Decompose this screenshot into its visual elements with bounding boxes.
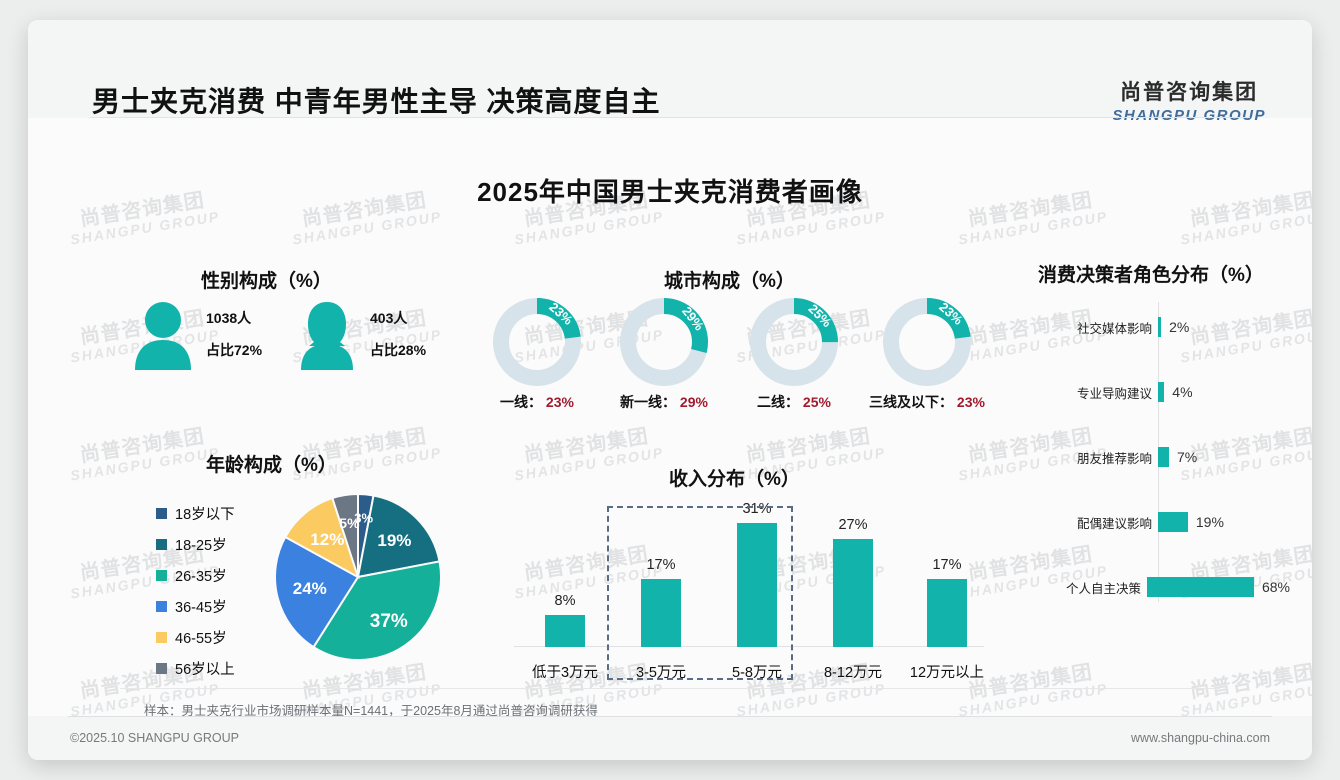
decision-bar-row: 配偶建议影响19%	[1040, 509, 1290, 535]
income-bar-category: 低于3万元	[513, 661, 617, 682]
donut-caption: 三线及以下： 23%	[869, 392, 985, 412]
age-legend-label: 18-25岁	[175, 534, 227, 555]
logo-chinese-name: 尚普咨询集团	[1112, 76, 1266, 106]
male-silhouette-icon	[132, 300, 194, 372]
income-bar-category: 8-12万元	[801, 661, 905, 682]
decision-bar	[1158, 447, 1169, 467]
decision-bar-row: 社交媒体影响2%	[1040, 314, 1290, 340]
legend-swatch	[156, 632, 167, 643]
website-text: www.shangpu-china.com	[1131, 731, 1270, 745]
donut-caption: 二线： 25%	[757, 392, 831, 412]
decision-bar-wrap: 68%	[1147, 577, 1290, 597]
decision-bar-label: 社交媒体影响	[1040, 318, 1152, 337]
female-share: 占比28%	[370, 340, 426, 360]
pie-value-label: 12%	[310, 530, 344, 550]
watermark: 尚普咨询集团SHANGPU GROUP	[66, 424, 221, 483]
legend-swatch	[156, 570, 167, 581]
income-bar	[545, 615, 585, 647]
decision-bar-wrap: 19%	[1158, 512, 1224, 532]
copyright-text: ©2025.10 SHANGPU GROUP	[70, 731, 239, 745]
decision-bar-row: 朋友推荐影响7%	[1040, 444, 1290, 470]
city-donut-3: 23%三线及以下： 23%	[883, 298, 971, 418]
income-bar-category: 12万元以上	[895, 661, 999, 682]
watermark: 尚普咨询集团SHANGPU GROUP	[1176, 660, 1312, 719]
pie-value-label: 24%	[293, 579, 327, 599]
decision-bar-chart: 社交媒体影响2%专业导购建议4%朋友推荐影响7%配偶建议影响19%个人自主决策6…	[1040, 302, 1290, 614]
age-legend-label: 56岁以上	[175, 658, 235, 679]
decision-bar	[1158, 382, 1164, 402]
income-bar-column: 8%	[518, 615, 612, 647]
age-legend-label: 46-55岁	[175, 627, 227, 648]
decision-bar	[1158, 317, 1161, 337]
decision-section-title: 消费决策者角色分布（%）	[1038, 260, 1264, 287]
income-bar-chart: 8%低于3万元17%3-5万元31%5-8万元27%8-12万元17%12万元以…	[514, 498, 984, 688]
decision-bar-value: 7%	[1177, 449, 1197, 465]
age-legend-label: 26-35岁	[175, 565, 227, 586]
city-donut-1: 29%新一线： 29%	[620, 298, 708, 418]
header-bar: 男士夹克消费 中青年男性主导 决策高度自主 尚普咨询集团 SHANGPU GRO…	[28, 20, 1312, 118]
age-legend-item: 18岁以下	[156, 498, 235, 529]
decision-bar-wrap: 2%	[1158, 317, 1189, 337]
decision-bar	[1158, 512, 1188, 532]
donut-caption: 一线： 23%	[500, 392, 574, 412]
decision-bar-wrap: 4%	[1158, 382, 1193, 402]
legend-swatch	[156, 663, 167, 674]
decision-bar-label: 专业导购建议	[1040, 383, 1152, 402]
gender-section-title: 性别构成（%）	[201, 266, 332, 293]
footer-divider	[68, 716, 1272, 717]
logo-english-name: SHANGPU GROUP	[1112, 107, 1266, 124]
legend-swatch	[156, 601, 167, 612]
income-bar	[927, 579, 967, 647]
decision-bar-label: 个人自主决策	[1040, 578, 1141, 597]
age-legend-label: 36-45岁	[175, 596, 227, 617]
watermark: 尚普咨询集团SHANGPU GROUP	[510, 424, 665, 483]
age-legend-item: 18-25岁	[156, 529, 235, 560]
decision-bar-row: 专业导购建议4%	[1040, 379, 1290, 405]
decision-bar-row: 个人自主决策68%	[1040, 574, 1290, 600]
age-section-title: 年龄构成（%）	[206, 450, 337, 477]
gender-item-male: 1038人 占比72%	[132, 300, 194, 377]
donut-caption: 新一线： 29%	[620, 392, 708, 412]
age-legend-item: 56岁以上	[156, 653, 235, 684]
decision-bar-label: 朋友推荐影响	[1040, 448, 1152, 467]
age-legend-item: 26-35岁	[156, 560, 235, 591]
note-divider	[120, 688, 1220, 689]
city-donut-2: 25%二线： 25%	[750, 298, 838, 418]
age-legend: 18岁以下18-25岁26-35岁36-45岁46-55岁56岁以上	[156, 498, 235, 684]
legend-swatch	[156, 539, 167, 550]
pie-value-label: 5%	[339, 515, 359, 531]
female-count: 403人	[370, 308, 407, 328]
income-bar-value: 8%	[518, 593, 612, 609]
male-count: 1038人	[206, 308, 251, 328]
income-section-title: 收入分布（%）	[669, 464, 800, 491]
decision-bar	[1147, 577, 1254, 597]
decision-bar-value: 19%	[1196, 514, 1224, 530]
age-legend-label: 18岁以下	[175, 503, 235, 524]
page-title: 男士夹克消费 中青年男性主导 决策高度自主	[92, 80, 661, 120]
chart-subtitle: 2025年中国男士夹克消费者画像	[28, 172, 1312, 209]
male-share: 占比72%	[206, 340, 262, 360]
income-highlight-box	[607, 506, 793, 680]
decision-bar-value: 68%	[1262, 579, 1290, 595]
gender-item-female: 403人 占比28%	[296, 300, 358, 377]
income-bar	[833, 539, 873, 647]
income-bar-value: 17%	[900, 557, 994, 573]
city-donut-0: 23%一线： 23%	[493, 298, 581, 418]
female-silhouette-icon	[296, 300, 358, 372]
footer-bar: ©2025.10 SHANGPU GROUP www.shangpu-china…	[28, 716, 1312, 760]
age-pie-chart: 3%19%37%24%12%5%	[273, 492, 443, 662]
decision-bar-value: 4%	[1172, 384, 1192, 400]
infographic-card: 尚普咨询集团SHANGPU GROUP尚普咨询集团SHANGPU GROUP尚普…	[28, 20, 1312, 760]
age-legend-item: 46-55岁	[156, 622, 235, 653]
income-bar-value: 27%	[806, 517, 900, 533]
city-section-title: 城市构成（%）	[664, 266, 795, 293]
income-bar-column: 17%	[900, 579, 994, 647]
decision-bar-wrap: 7%	[1158, 447, 1197, 467]
decision-bar-label: 配偶建议影响	[1040, 513, 1152, 532]
decision-bar-value: 2%	[1169, 319, 1189, 335]
header-divider	[90, 117, 1250, 118]
pie-value-label: 19%	[377, 531, 411, 551]
pie-value-label: 37%	[370, 611, 408, 633]
income-bar-column: 27%	[806, 539, 900, 647]
legend-swatch	[156, 508, 167, 519]
age-legend-item: 36-45岁	[156, 591, 235, 622]
